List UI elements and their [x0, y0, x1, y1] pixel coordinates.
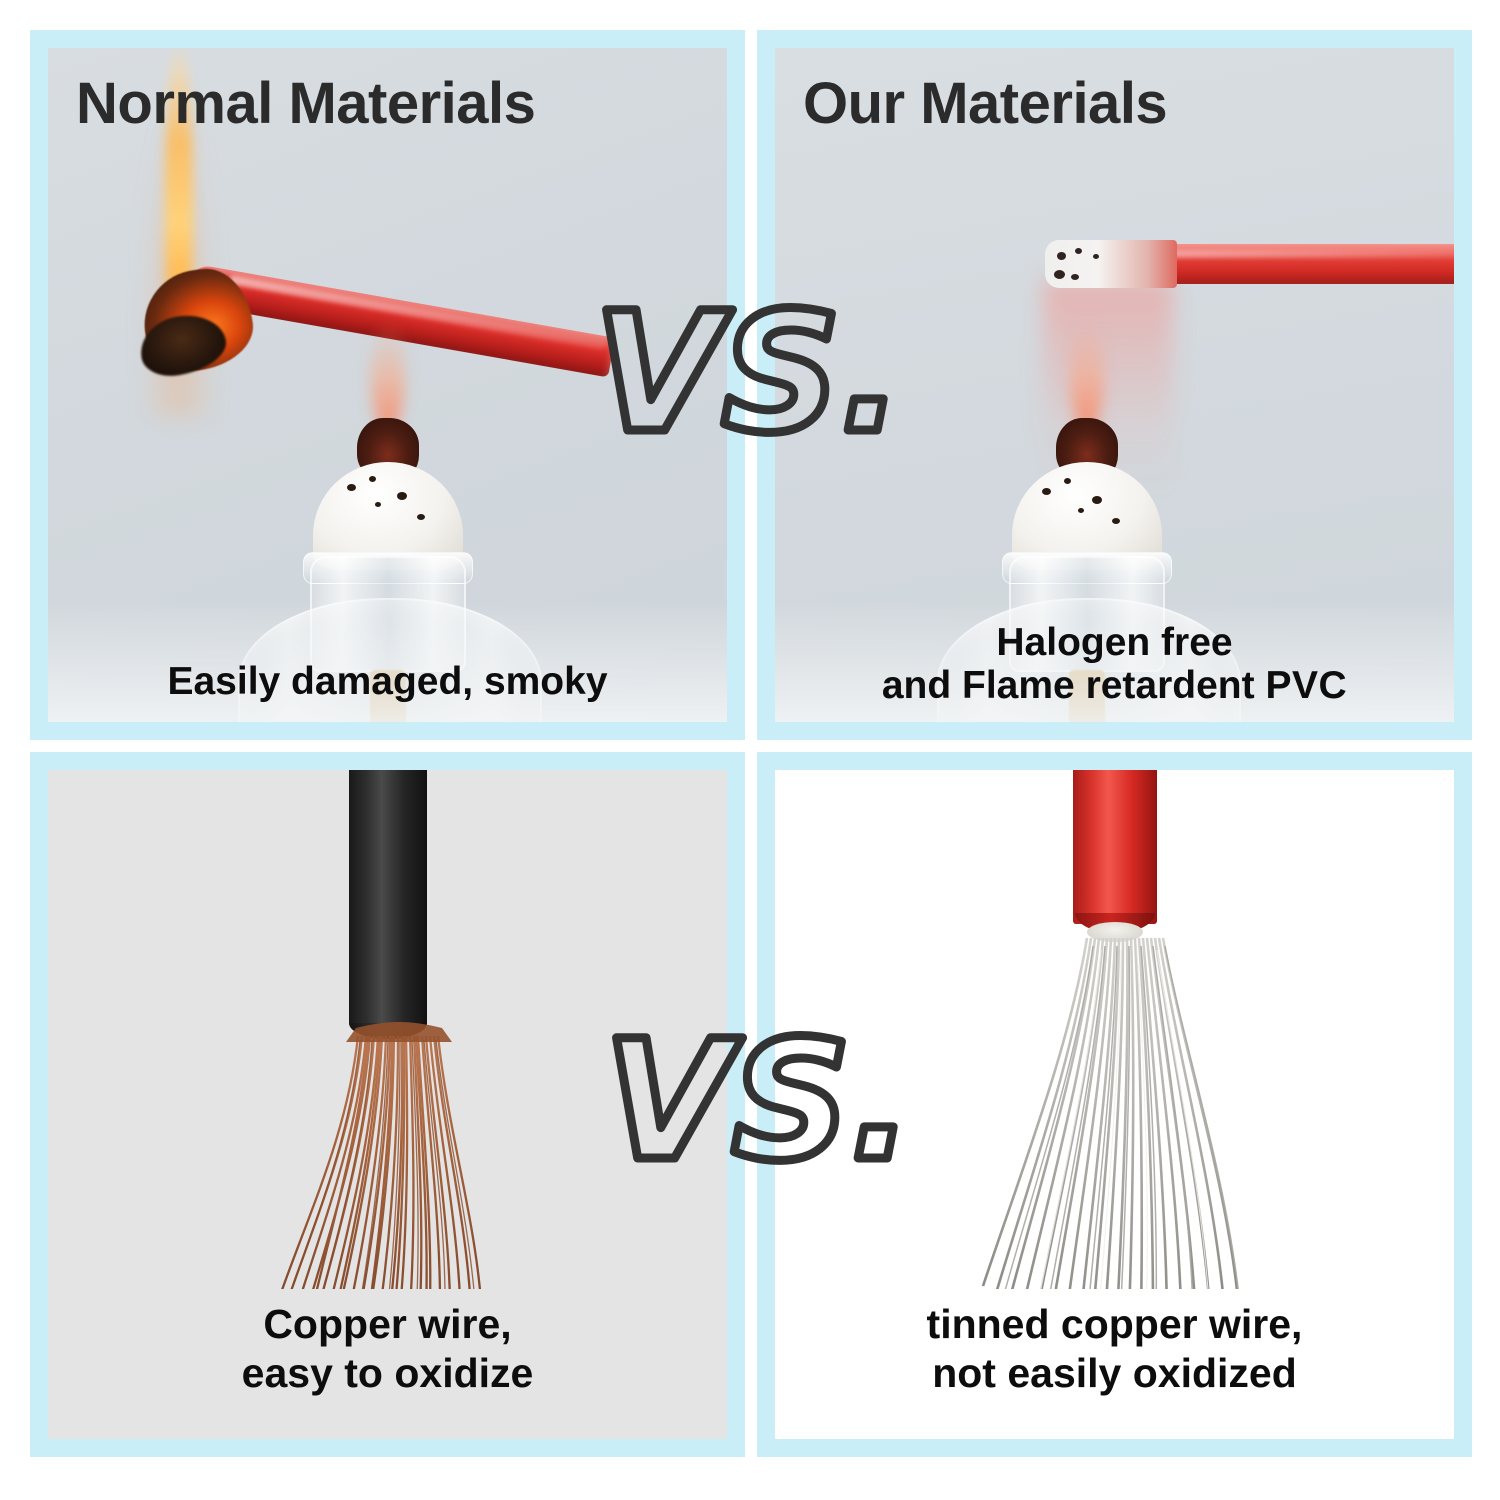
wire-charred-white-tip: [1045, 240, 1177, 288]
caption-ours-line2: and Flame retardent PVC: [775, 665, 1454, 708]
lamp-flame: [371, 322, 405, 432]
panel-normal-materials: Normal Materials Easily damaged, smoky: [30, 30, 745, 740]
caption-tinned-copper: tinned copper wire, not easily oxidized: [775, 1300, 1454, 1397]
photo-burning-wire: [48, 48, 727, 722]
wire-highlight: [228, 275, 606, 350]
caption-pvc-suffix: PVC: [1265, 664, 1347, 707]
panel-our-materials: Our Materials Halogen free and Flame ret…: [757, 30, 1472, 740]
comparison-infographic: Normal Materials Easily damaged, smoky: [0, 0, 1500, 1500]
caption-copper: Copper wire, easy to oxidize: [48, 1300, 727, 1397]
page-title-ours: Our Materials: [803, 70, 1167, 137]
page-title-normal: Normal Materials: [76, 70, 535, 137]
caption-ours: Halogen free and Flame retardent PVC: [775, 622, 1454, 708]
panel-copper-wire: Copper wire, easy to oxidize: [30, 752, 745, 1457]
panel-tinned-copper-wire: tinned copper wire, not easily oxidized: [757, 752, 1472, 1457]
caption-normal: Easily damaged, smoky: [48, 661, 727, 704]
lamp-flame: [1070, 322, 1104, 432]
